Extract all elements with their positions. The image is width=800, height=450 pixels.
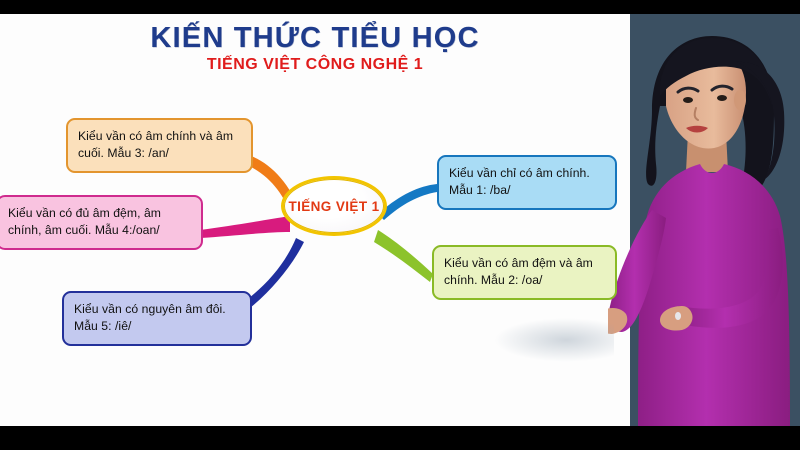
presenter-ring [675,312,681,320]
letterbox-bottom [0,426,800,450]
branch-blue [378,184,437,220]
topic-box-mau-3[interactable]: Kiểu vần có âm chính và âm cuối. Mẫu 3: … [66,118,253,173]
presenter-eye-left [683,97,693,103]
topic-label-mau-3: Kiểu vần có âm chính và âm cuối. Mẫu 3: … [78,129,233,160]
mindmap-center-node[interactable]: TIẾNG VIỆT 1 [281,176,387,236]
branch-green [374,230,433,282]
topic-label-mau-4: Kiểu vần có đủ âm đệm, âm chính, âm cuối… [8,206,161,237]
branch-navy [245,238,304,308]
topic-box-mau-5[interactable]: Kiểu vần có nguyên âm đôi. Mẫu 5: /iê/ [62,291,252,346]
topic-label-mau-1: Kiểu vần chỉ có âm chính. Mẫu 1: /ba/ [449,166,590,197]
branch-magenta [200,216,290,238]
page-title: KIẾN THỨC TIỂU HỌC [0,22,630,55]
screenshot-root: KIẾN THỨC TIỂU HỌC TIẾNG VIỆT CÔNG NGHỆ … [0,0,800,450]
presenter-ear [734,90,746,110]
presenter-figure [608,14,800,426]
topic-label-mau-2: Kiểu vần có âm đệm và âm chính. Mẫu 2: /… [444,256,593,287]
topic-box-mau-4[interactable]: Kiểu vần có đủ âm đệm, âm chính, âm cuối… [0,195,203,250]
topic-box-mau-2[interactable]: Kiểu vần có âm đệm và âm chính. Mẫu 2: /… [432,245,617,300]
center-node-label: TIẾNG VIỆT 1 [288,199,379,214]
page-subtitle: TIẾNG VIỆT CÔNG NGHỆ 1 [0,56,630,74]
topic-label-mau-5: Kiểu vần có nguyên âm đôi. Mẫu 5: /iê/ [74,302,226,333]
topic-box-mau-1[interactable]: Kiểu vần chỉ có âm chính. Mẫu 1: /ba/ [437,155,617,210]
presenter-eye-right [717,95,727,101]
letterbox-top [0,0,800,14]
